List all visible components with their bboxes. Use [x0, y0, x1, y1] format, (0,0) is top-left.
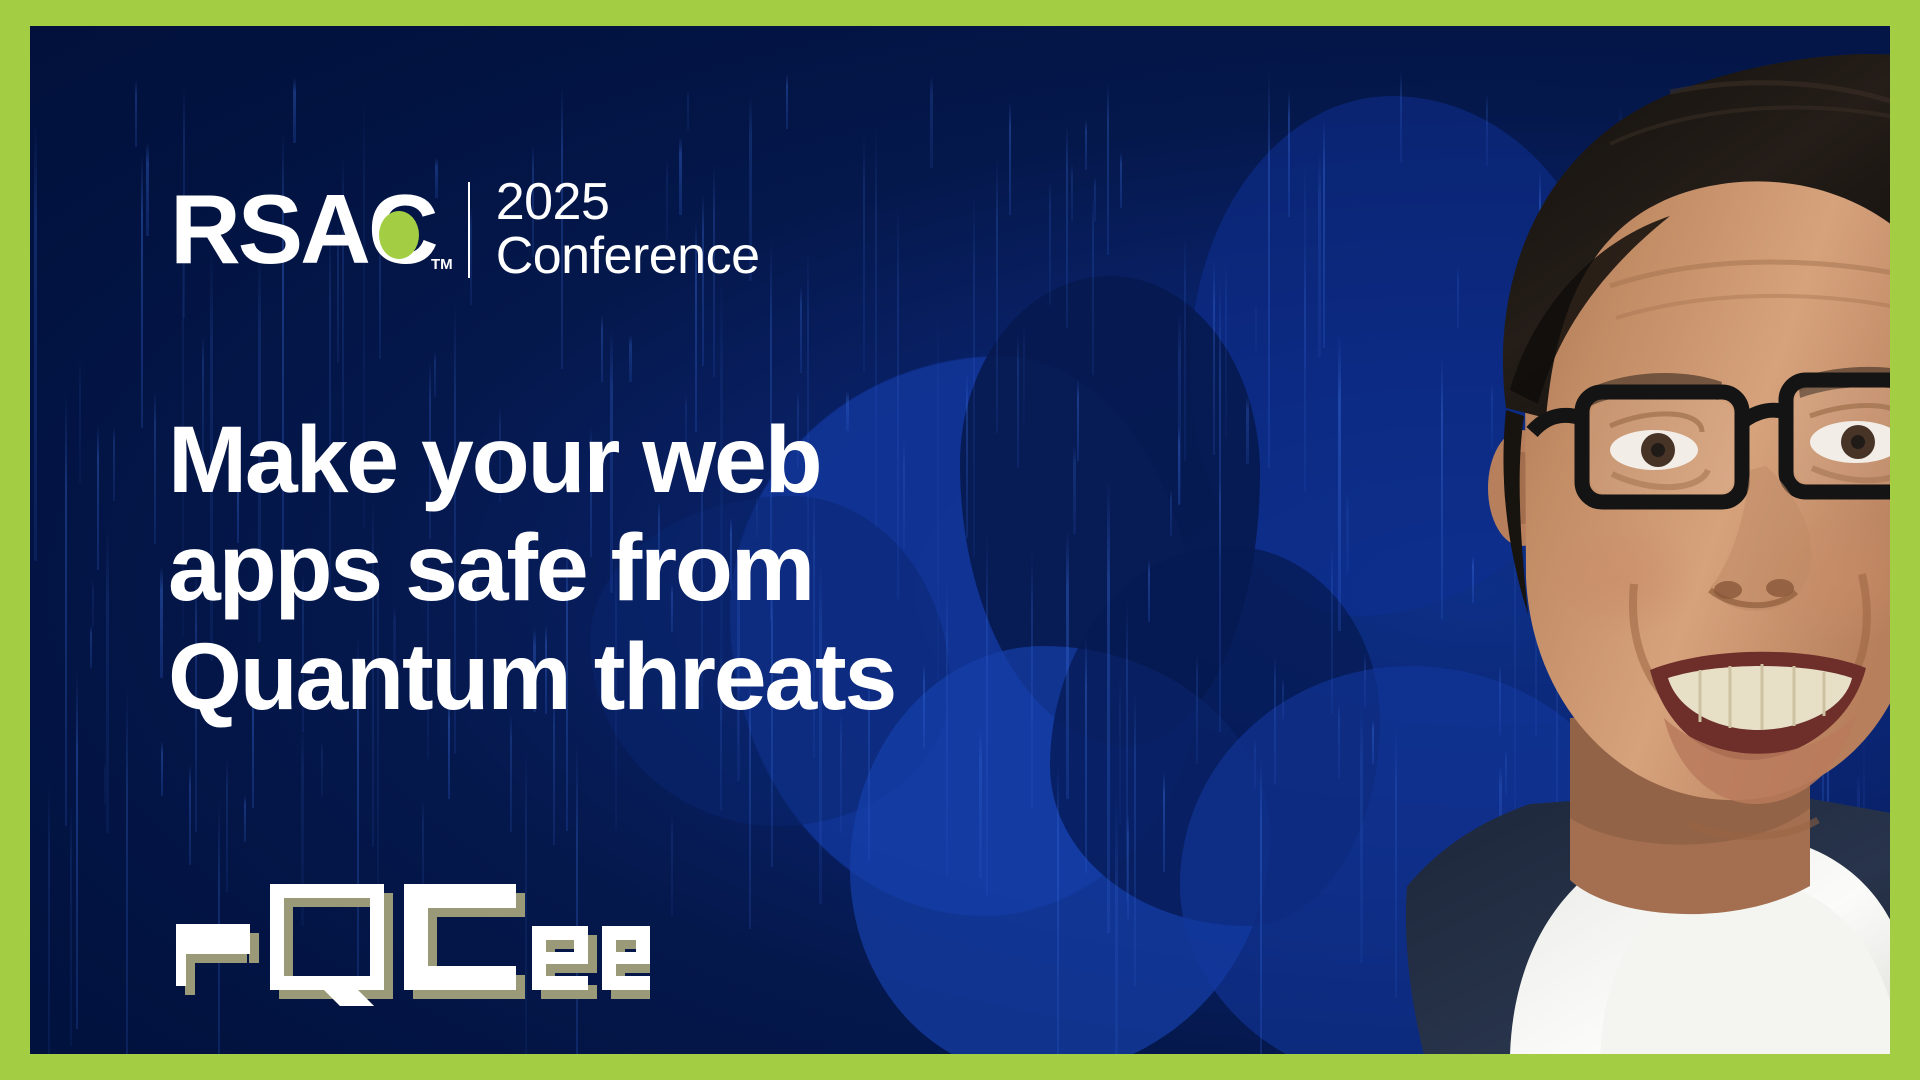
- rsac-year: 2025: [496, 176, 760, 230]
- rsac-wordmark: RSAC TM: [170, 184, 436, 274]
- rsac-divider: [468, 182, 470, 278]
- rsac-conference-word: Conference: [496, 230, 760, 284]
- rsac-session-promo-card: RSAC TM 2025 Conference Make your web ap…: [0, 0, 1920, 1080]
- rsac-conference-block: 2025 Conference: [496, 176, 760, 283]
- trademark-icon: TM: [431, 256, 453, 273]
- promo-stage: RSAC TM 2025 Conference Make your web ap…: [30, 26, 1890, 1054]
- session-title-line-2: apps safe from: [168, 514, 1188, 622]
- session-title: Make your web apps safe from Quantum thr…: [168, 406, 1188, 731]
- rsac-logo-lockup: RSAC TM 2025 Conference: [170, 176, 760, 283]
- session-title-line-1: Make your web: [168, 406, 1188, 514]
- session-title-line-3: Quantum threats: [168, 623, 1188, 731]
- rsac-green-dot-icon: [379, 211, 419, 259]
- background-blob-topright: [1190, 96, 1610, 616]
- background-blob-bottomright: [1180, 666, 1640, 1054]
- pqcee-logo: [170, 866, 650, 1006]
